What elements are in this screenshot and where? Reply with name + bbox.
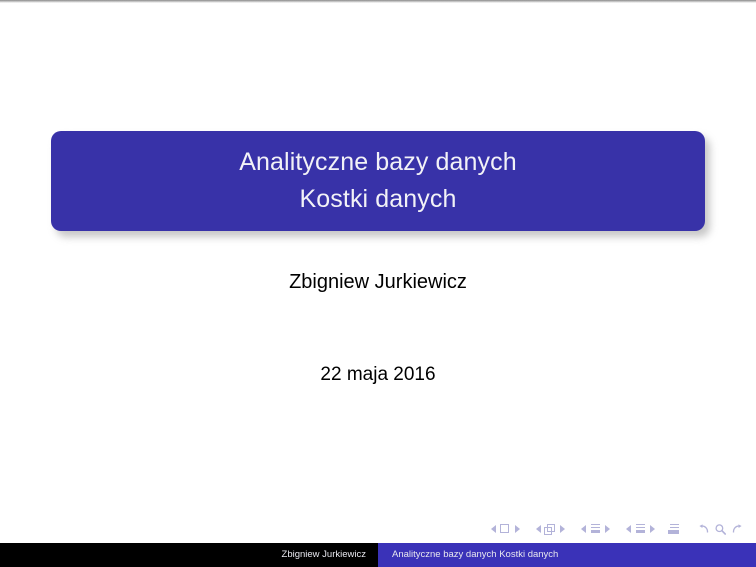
presentation-icon[interactable] [668,524,681,535]
back-arrow-icon[interactable] [697,523,710,536]
title-block: Analityczne bazy danych Kostki danych [51,131,705,231]
nav-group-presentation [668,524,681,535]
footer-author-text: Zbigniew Jurkiewicz [282,549,366,561]
title-box: Analityczne bazy danych Kostki danych [51,131,705,231]
search-icon[interactable] [714,523,727,536]
next-slide-icon[interactable] [515,525,520,533]
nav-group-slide [488,524,523,535]
presentation-date: 22 maja 2016 [0,361,756,388]
nav-group-section [623,524,658,535]
nav-group-frame [533,524,568,535]
prev-subsection-icon[interactable] [581,525,586,533]
slide-icon[interactable] [499,524,512,535]
footer-author-section: Zbigniew Jurkiewicz [0,543,378,567]
section-icon[interactable] [634,524,647,535]
presentation-slide: Analityczne bazy danych Kostki danych Zb… [0,0,756,567]
next-section-icon[interactable] [650,525,655,533]
next-subsection-icon[interactable] [605,525,610,533]
nav-group-subsection [578,524,613,535]
title-line-2: Kostki danych [300,181,457,218]
next-frame-icon[interactable] [560,525,565,533]
forward-arrow-icon[interactable] [731,523,744,536]
frame-icon[interactable] [544,524,557,535]
prev-frame-icon[interactable] [536,525,541,533]
beamer-navigation-bar[interactable] [488,519,744,539]
subsection-icon[interactable] [589,524,602,535]
author-name: Zbigniew Jurkiewicz [0,268,756,296]
slide-footer: Zbigniew Jurkiewicz Analityczne bazy dan… [0,543,756,567]
footer-title-text: Analityczne bazy danych Kostki danych [392,549,558,561]
prev-slide-icon[interactable] [491,525,496,533]
nav-arrow-group [697,523,744,536]
prev-section-icon[interactable] [626,525,631,533]
footer-title-section: Analityczne bazy danych Kostki danych [378,543,756,567]
title-line-1: Analityczne bazy danych [239,144,516,181]
